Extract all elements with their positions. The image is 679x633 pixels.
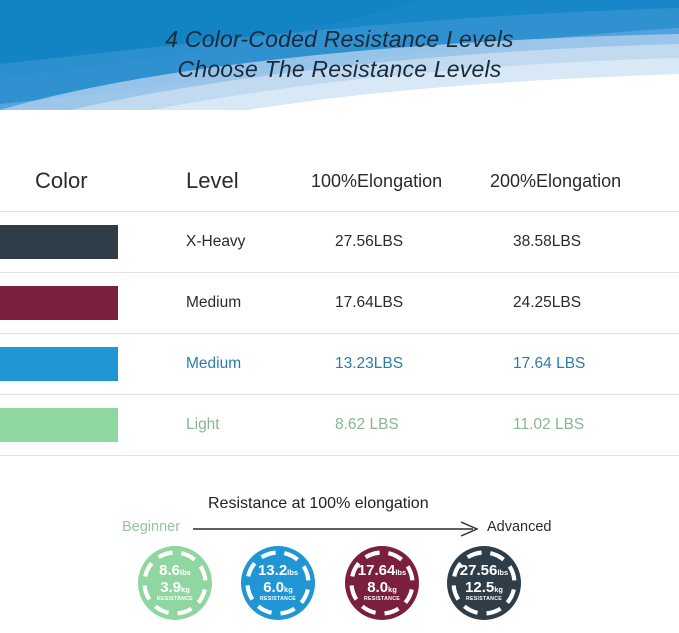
cell-100-elongation: 17.64LBS [335, 294, 403, 312]
page-title-line-2: Choose The Resistance Levels [0, 54, 679, 84]
dial-kg-value: 6.0 [263, 579, 284, 596]
color-swatch [0, 408, 118, 442]
cell-level: Light [186, 416, 220, 434]
column-header-level: Level [186, 168, 239, 194]
scale-advanced-label: Advanced [487, 519, 552, 535]
dial-readout: 17.64lbs8.0kgRESISTANCE [344, 545, 420, 621]
dial-kg-unit: kg [284, 585, 293, 594]
dial-caption: RESISTANCE [364, 597, 400, 602]
table-header-row: Color Level 100%Elongation 200%Elongatio… [0, 110, 679, 212]
cell-200-elongation: 24.25LBS [513, 294, 581, 312]
resistance-dials: 8.6lbs3.9kgRESISTANCE13.2lbs6.0kgRESISTA… [0, 545, 679, 633]
dial-lbs-line: 8.6lbs [159, 563, 191, 578]
dial-lbs-value: 17.64 [358, 562, 396, 579]
color-swatch [0, 347, 118, 381]
cell-level: Medium [186, 355, 241, 373]
cell-100-elongation: 27.56LBS [335, 233, 403, 251]
cell-100-elongation: 13.23LBS [335, 355, 403, 373]
dial-lbs-value: 27.56 [460, 562, 498, 579]
header-banner: 4 Color-Coded Resistance Levels Choose T… [0, 0, 679, 110]
table-row: Medium13.23LBS17.64 LBS [0, 334, 679, 395]
dial-kg-unit: kg [494, 585, 503, 594]
dial-caption: RESISTANCE [466, 597, 502, 602]
resistance-levels-infographic: 4 Color-Coded Resistance Levels Choose T… [0, 0, 679, 633]
cell-level: Medium [186, 294, 241, 312]
resistance-dial: 17.64lbs8.0kgRESISTANCE [344, 545, 420, 621]
dial-lbs-unit: lbs [287, 568, 298, 577]
dial-kg-line: 12.5kg [465, 580, 503, 595]
dial-caption: RESISTANCE [157, 597, 193, 602]
dial-lbs-line: 17.64lbs [358, 563, 406, 578]
dial-lbs-unit: lbs [497, 568, 508, 577]
dial-kg-line: 6.0kg [263, 580, 293, 595]
dial-kg-value: 3.9 [160, 579, 181, 596]
dial-lbs-value: 8.6 [159, 562, 180, 579]
resistance-table: Color Level 100%Elongation 200%Elongatio… [0, 110, 679, 456]
dial-readout: 13.2lbs6.0kgRESISTANCE [240, 545, 316, 621]
resistance-dial: 13.2lbs6.0kgRESISTANCE [240, 545, 316, 621]
cell-200-elongation: 11.02 LBS [513, 416, 584, 434]
color-swatch [0, 286, 118, 320]
dial-lbs-line: 27.56lbs [460, 563, 508, 578]
scale-caption: Resistance at 100% elongation [208, 495, 429, 513]
page-title: 4 Color-Coded Resistance Levels Choose T… [0, 24, 679, 84]
dial-readout: 8.6lbs3.9kgRESISTANCE [137, 545, 213, 621]
resistance-dial: 8.6lbs3.9kgRESISTANCE [137, 545, 213, 621]
dial-caption: RESISTANCE [260, 597, 296, 602]
scale-arrow-icon [193, 521, 483, 537]
dial-kg-unit: kg [388, 585, 397, 594]
scale-beginner-label: Beginner [122, 519, 180, 535]
resistance-scale: Resistance at 100% elongation Beginner A… [0, 495, 679, 543]
dial-kg-value: 8.0 [367, 579, 388, 596]
table-row: Light8.62 LBS11.02 LBS [0, 395, 679, 456]
column-header-color: Color [35, 168, 88, 194]
table-row: X-Heavy27.56LBS38.58LBS [0, 212, 679, 273]
cell-200-elongation: 38.58LBS [513, 233, 581, 251]
dial-kg-unit: kg [181, 585, 190, 594]
cell-100-elongation: 8.62 LBS [335, 416, 399, 434]
column-header-200-elongation: 200%Elongation [490, 171, 621, 192]
page-title-line-1: 4 Color-Coded Resistance Levels [165, 26, 513, 52]
resistance-dial: 27.56lbs12.5kgRESISTANCE [446, 545, 522, 621]
table-row: Medium17.64LBS24.25LBS [0, 273, 679, 334]
cell-200-elongation: 17.64 LBS [513, 355, 585, 373]
dial-lbs-line: 13.2lbs [258, 563, 298, 578]
dial-lbs-unit: lbs [395, 568, 406, 577]
cell-level: X-Heavy [186, 233, 245, 251]
dial-lbs-unit: lbs [180, 568, 191, 577]
table-body: X-Heavy27.56LBS38.58LBSMedium17.64LBS24.… [0, 212, 679, 456]
dial-kg-value: 12.5 [465, 579, 494, 596]
dial-lbs-value: 13.2 [258, 562, 287, 579]
dial-kg-line: 3.9kg [160, 580, 190, 595]
column-header-100-elongation: 100%Elongation [311, 171, 442, 192]
row-divider [0, 455, 679, 456]
dial-kg-line: 8.0kg [367, 580, 397, 595]
dial-readout: 27.56lbs12.5kgRESISTANCE [446, 545, 522, 621]
color-swatch [0, 225, 118, 259]
